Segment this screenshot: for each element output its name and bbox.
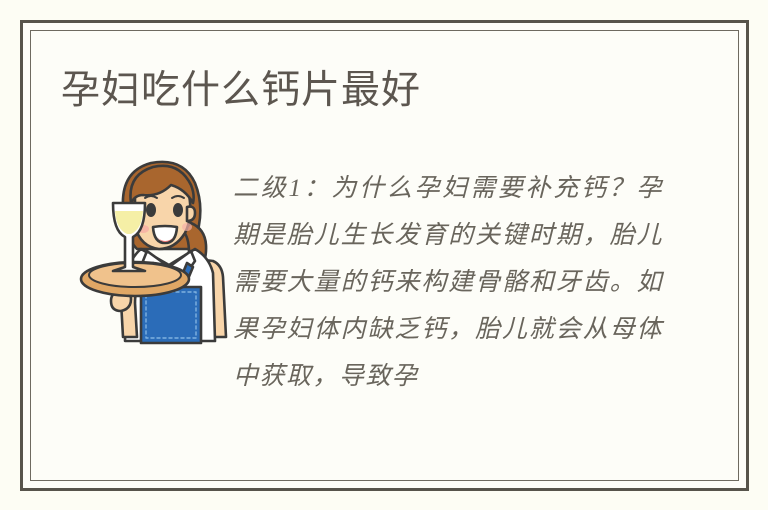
document-page: 孕妇吃什么钙片最好 [0, 0, 768, 510]
mouth-shape [153, 226, 177, 243]
page-title: 孕妇吃什么钙片最好 [61, 69, 421, 113]
inner-border-frame: 孕妇吃什么钙片最好 [30, 30, 739, 481]
right-blush-shape [182, 223, 192, 231]
ear-shape [187, 207, 195, 221]
outer-border-frame: 孕妇吃什么钙片最好 [20, 20, 749, 491]
article-body-text: 二级1：为什么孕妇需要补充钙？孕期是胎儿生长发育的关键时期，胎儿需要大量的钙来构… [233, 165, 663, 400]
right-eye-shape [173, 203, 183, 217]
waitress-with-tray-illustration [79, 141, 244, 346]
left-eye-shape [146, 203, 156, 217]
